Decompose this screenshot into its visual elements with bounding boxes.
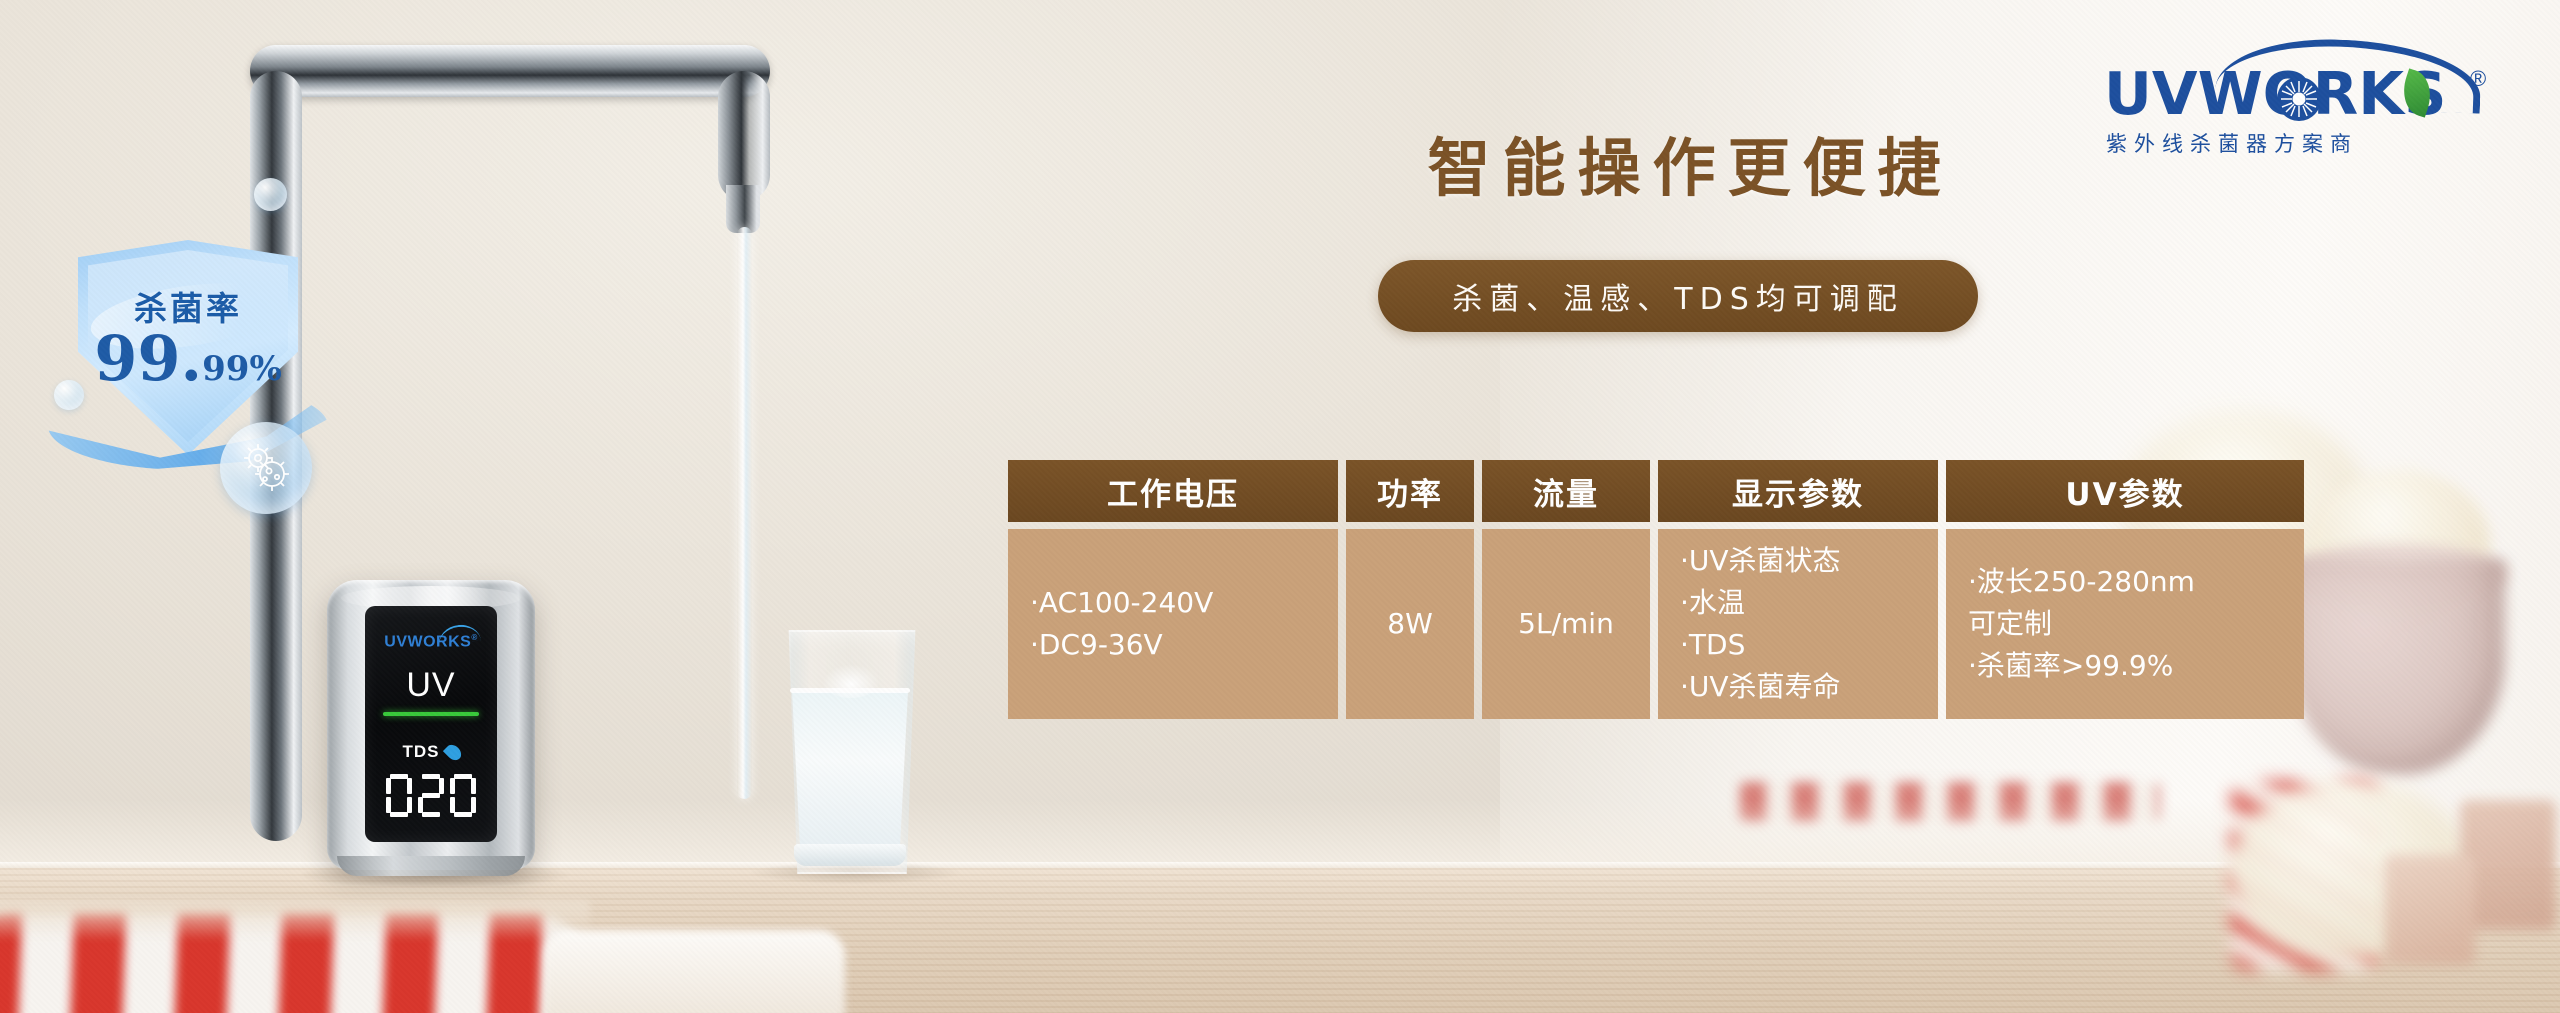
badge-value-minor: 99 — [202, 349, 249, 389]
spec-line: 可定制 — [1968, 603, 2052, 645]
badge-value-unit: % — [249, 349, 281, 389]
spec-line: 5L/min — [1518, 603, 1614, 645]
faucet-right-drop — [718, 71, 770, 201]
spec-line: 8W — [1387, 603, 1433, 645]
subtitle-pill-label: 杀菌、温感、TDS均可调配 — [1452, 274, 1903, 318]
badge-value-separator: . — [181, 322, 203, 395]
seven-segment-digit — [418, 774, 444, 818]
device-display-panel: UVWORKS® UV TDS — [365, 606, 497, 842]
page-title: 智能操作更便捷 — [1370, 118, 2010, 209]
device-logo-arc-icon — [437, 623, 481, 646]
cloth-fade-mask — [0, 900, 590, 940]
water-stream-icon — [737, 227, 752, 799]
spec-table-header-row: 工作电压 功率 流量 显示参数 UV参数 — [1008, 460, 2308, 522]
water-glass-icon — [780, 620, 920, 880]
device-status-bar — [383, 712, 479, 716]
bubble-icon — [54, 380, 84, 410]
seven-segment-digit — [386, 774, 412, 818]
faucet-spout — [726, 185, 760, 233]
bubble-icon — [254, 178, 287, 211]
device-tds-row: TDS — [403, 742, 460, 762]
spec-header-cell: 显示参数 — [1658, 460, 1938, 522]
spec-value-cell: ·UV杀菌状态 ·水温 ·TDS ·UV杀菌寿命 — [1658, 529, 1938, 719]
device-screen-logo: UVWORKS® — [384, 634, 477, 650]
sterilization-rate-badge: 杀菌率 99.99% — [48, 240, 348, 540]
spec-table: 工作电压 功率 流量 显示参数 UV参数 ·AC100-240V ·DC9-36… — [1008, 460, 2308, 719]
germ-bubble-icon — [220, 422, 312, 514]
spec-line: ·UV杀菌状态 — [1680, 540, 1841, 582]
brand-logo: UVWORKS ® 紫外线杀菌器方案商 — [2096, 36, 2496, 154]
uv-sterilizer-device: UVWORKS® UV TDS — [327, 580, 535, 870]
spec-line: ·水温 — [1680, 582, 1745, 624]
spec-header-cell: 工作电压 — [1008, 460, 1338, 522]
device-tds-value — [386, 774, 476, 818]
water-drop-icon — [442, 742, 463, 763]
faucet-top-arm — [250, 45, 770, 97]
registered-mark: ® — [2470, 66, 2486, 92]
badge-value: 99.99% — [78, 328, 298, 390]
spec-header-cell: 功率 — [1346, 460, 1474, 522]
glass-water-fill — [787, 692, 913, 864]
spec-line: ·TDS — [1680, 624, 1745, 666]
spec-value-cell: ·AC100-240V ·DC9-36V — [1008, 529, 1338, 719]
spec-line: ·杀菌率>99.9% — [1968, 645, 2173, 687]
spec-value-cell: ·波长250-280nm 可定制 ·杀菌率>99.9% — [1946, 529, 2304, 719]
spec-line: ·DC9-36V — [1030, 624, 1163, 666]
spec-line: ·AC100-240V — [1030, 582, 1213, 624]
product-banner: UVWORKS® UV TDS — [0, 0, 2560, 1013]
subtitle-pill: 杀菌、温感、TDS均可调配 — [1378, 260, 1978, 332]
device-base — [337, 856, 525, 876]
wood-block-b-icon — [2385, 855, 2475, 965]
spec-value-cell: 5L/min — [1482, 529, 1650, 719]
water-splash-icon — [822, 664, 880, 698]
logo-tagline: 紫外线杀菌器方案商 — [2106, 128, 2358, 158]
seven-segment-digit — [450, 774, 476, 818]
glass-base — [794, 844, 906, 866]
white-plate-icon — [545, 930, 845, 1013]
spec-line: ·波长250-280nm — [1968, 561, 2195, 603]
bacteria-icon — [236, 438, 296, 498]
device-tds-label: TDS — [403, 742, 440, 762]
spec-header-cell: 流量 — [1482, 460, 1650, 522]
spec-table-body-row: ·AC100-240V ·DC9-36V 8W 5L/min ·UV杀菌状态 ·… — [1008, 529, 2308, 719]
sunburst-icon — [2276, 76, 2322, 122]
badge-value-major: 99 — [94, 322, 180, 395]
spec-line: ·UV杀菌寿命 — [1680, 666, 1841, 708]
spec-value-cell: 8W — [1346, 529, 1474, 719]
device-mode-label: UV — [406, 668, 455, 702]
spec-header-cell: UV参数 — [1946, 460, 2304, 522]
